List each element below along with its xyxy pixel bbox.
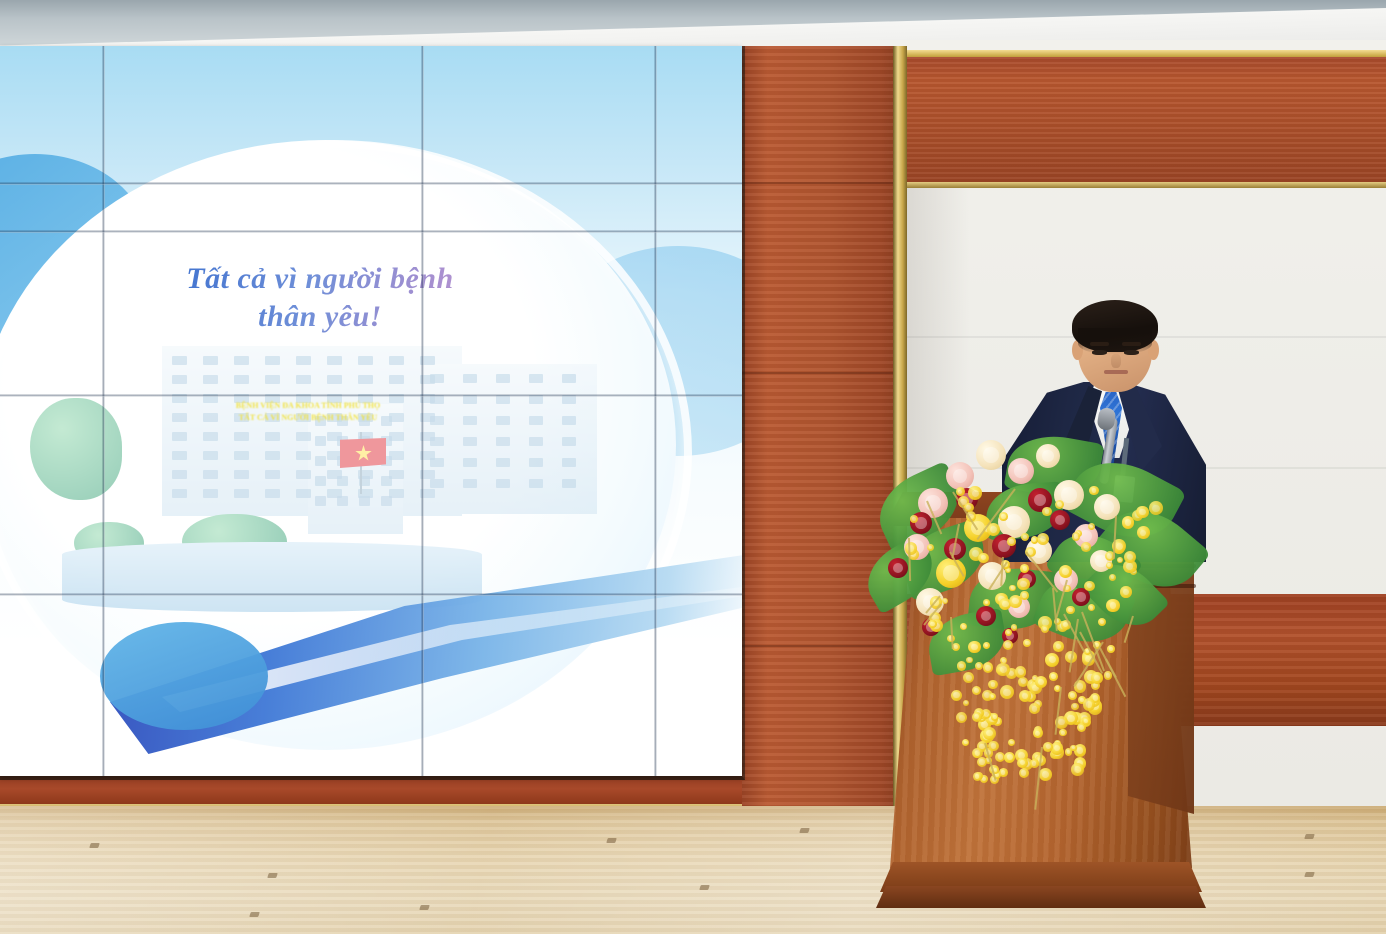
window bbox=[315, 476, 326, 486]
floral-arrangement bbox=[858, 418, 1188, 818]
valance-gold-trim-bottom bbox=[900, 182, 1386, 188]
window bbox=[315, 456, 326, 466]
orchid-floret bbox=[1030, 759, 1039, 768]
orchid-floret bbox=[1137, 526, 1150, 539]
window bbox=[172, 451, 187, 460]
floor-plank-mark bbox=[267, 873, 278, 878]
orchid-floret bbox=[1082, 717, 1090, 725]
orchid-floret bbox=[962, 739, 969, 746]
orchid-floret bbox=[1009, 595, 1022, 608]
window bbox=[496, 458, 510, 467]
window bbox=[296, 432, 311, 441]
wooden-beam-valance bbox=[900, 57, 1386, 185]
orchid-floret bbox=[1071, 763, 1083, 775]
window bbox=[529, 416, 543, 425]
orchid-floret bbox=[957, 661, 966, 670]
floor-plank-mark bbox=[249, 912, 260, 917]
window bbox=[381, 476, 392, 486]
orchid-floret bbox=[905, 542, 918, 555]
led-video-wall[interactable]: Tất cả vì người bệnh thân yêu! BỆNH VIỆN… bbox=[0, 46, 742, 776]
window bbox=[172, 356, 187, 365]
orchid-floret bbox=[1083, 698, 1096, 711]
window bbox=[315, 496, 326, 506]
window bbox=[296, 375, 311, 384]
floor-plank-mark bbox=[799, 828, 810, 833]
slide-subtext-line2: TẤT CẢ VÌ NGƯỜI BỆNH THÂN YÊU bbox=[148, 412, 468, 424]
window bbox=[529, 479, 543, 488]
slide-subtext: BỆNH VIỆN ĐA KHOA TỈNH PHÚ THỌ TẤT CẢ VÌ… bbox=[148, 400, 468, 424]
window bbox=[529, 458, 543, 467]
orchid-floret bbox=[956, 712, 967, 723]
orchid-floret bbox=[983, 662, 994, 673]
orchid-floret bbox=[1015, 666, 1027, 678]
orchid-floret bbox=[1008, 739, 1016, 747]
window bbox=[337, 496, 348, 506]
mouth bbox=[1104, 370, 1128, 374]
floor-plank-mark bbox=[606, 838, 617, 843]
window bbox=[389, 375, 404, 384]
orchid-floret bbox=[1109, 574, 1116, 581]
window bbox=[315, 436, 326, 446]
panel-seam-horizontal bbox=[0, 394, 742, 397]
window bbox=[496, 479, 510, 488]
orchid-floret bbox=[1106, 562, 1113, 569]
window bbox=[562, 374, 576, 383]
hospital-building-photo bbox=[22, 346, 602, 626]
window bbox=[463, 458, 477, 467]
window bbox=[265, 489, 280, 498]
slide-subtext-line1: BỆNH VIỆN ĐA KHOA TỈNH PHÚ THỌ bbox=[148, 400, 468, 412]
panel-seam-vertical bbox=[654, 46, 657, 776]
orchid-floret bbox=[988, 741, 999, 752]
orchid-floret bbox=[1033, 728, 1043, 738]
flower bbox=[888, 558, 908, 578]
flower bbox=[1036, 444, 1060, 468]
orchid-floret bbox=[951, 690, 963, 702]
window bbox=[327, 356, 342, 365]
panel-seam-horizontal bbox=[0, 230, 742, 233]
window bbox=[496, 416, 510, 425]
orchid-floret bbox=[1088, 523, 1095, 530]
panel-seam-horizontal bbox=[0, 182, 742, 185]
orchid-floret bbox=[1039, 768, 1052, 781]
orchid-floret bbox=[989, 693, 996, 700]
orchid-floret bbox=[1107, 645, 1114, 652]
orchid-floret bbox=[1011, 624, 1017, 630]
flower bbox=[976, 440, 1006, 470]
wood-panel-groove bbox=[742, 182, 900, 184]
floor-plank-mark bbox=[419, 905, 430, 910]
hair bbox=[1072, 300, 1158, 352]
window bbox=[172, 489, 187, 498]
wood-panel-groove bbox=[742, 372, 900, 374]
window bbox=[463, 479, 477, 488]
panel-seam-vertical bbox=[421, 46, 424, 776]
window bbox=[430, 374, 444, 383]
orchid-floret bbox=[975, 662, 983, 670]
window bbox=[203, 489, 218, 498]
orchid-floret bbox=[1068, 691, 1077, 700]
orchid-floret bbox=[1136, 506, 1149, 519]
panel-seam-horizontal bbox=[0, 593, 742, 596]
orchid-floret bbox=[978, 553, 988, 563]
window bbox=[496, 374, 510, 383]
orchid-floret bbox=[963, 672, 974, 683]
panel-seam-vertical bbox=[102, 46, 105, 776]
orchid-floret bbox=[942, 598, 948, 604]
orchid-floret bbox=[1023, 639, 1031, 647]
window bbox=[172, 375, 187, 384]
slide-headline: Tất cả vì người bệnh thân yêu! bbox=[0, 260, 640, 337]
window bbox=[296, 356, 311, 365]
window bbox=[463, 374, 477, 383]
orchid-floret bbox=[1071, 703, 1079, 711]
window bbox=[265, 451, 280, 460]
flower bbox=[976, 606, 996, 626]
flower bbox=[1050, 510, 1070, 530]
orchid-floret bbox=[999, 512, 1008, 521]
flower bbox=[1008, 458, 1034, 484]
window bbox=[562, 437, 576, 446]
window bbox=[562, 458, 576, 467]
orchid-floret bbox=[1045, 653, 1059, 667]
window bbox=[430, 458, 444, 467]
orchid-floret bbox=[1106, 599, 1119, 612]
orchid-floret bbox=[1120, 586, 1131, 597]
floor-plank-mark bbox=[1304, 834, 1315, 839]
window bbox=[234, 375, 249, 384]
orchid-floret bbox=[1005, 629, 1012, 636]
window bbox=[265, 432, 280, 441]
orchid-floret bbox=[956, 487, 965, 496]
window bbox=[430, 479, 444, 488]
eyebrow-right bbox=[1122, 342, 1141, 346]
nose bbox=[1111, 354, 1121, 368]
window bbox=[296, 489, 311, 498]
window bbox=[562, 416, 576, 425]
orchid-floret bbox=[1122, 516, 1135, 529]
orchid-floret bbox=[1059, 729, 1066, 736]
window bbox=[296, 470, 311, 479]
window bbox=[529, 374, 543, 383]
tree bbox=[30, 398, 122, 500]
window bbox=[203, 470, 218, 479]
orchid-floret bbox=[1018, 677, 1028, 687]
eyebrow-left bbox=[1090, 342, 1109, 346]
orchid-floret bbox=[1019, 768, 1029, 778]
baseboard bbox=[0, 772, 742, 806]
orchid-floret bbox=[983, 727, 996, 740]
window bbox=[234, 432, 249, 441]
floor-plank-mark bbox=[1304, 872, 1315, 877]
orchid-floret bbox=[1004, 752, 1015, 763]
orchid-floret bbox=[910, 515, 918, 523]
window bbox=[327, 375, 342, 384]
slide-headline-line2: thân yêu! bbox=[0, 298, 640, 336]
window bbox=[172, 432, 187, 441]
window bbox=[172, 470, 187, 479]
orchid-floret bbox=[1084, 581, 1094, 591]
floor-plank-mark bbox=[699, 885, 710, 890]
window bbox=[381, 496, 392, 506]
flower bbox=[946, 462, 974, 490]
orchid-floret bbox=[983, 642, 990, 649]
eye-left bbox=[1092, 350, 1107, 355]
window bbox=[265, 356, 280, 365]
orchid-floret bbox=[973, 772, 982, 781]
orchid-floret bbox=[1042, 507, 1051, 516]
orchid-floret bbox=[1003, 640, 1014, 651]
lectern-plinth bbox=[876, 886, 1206, 908]
window bbox=[337, 476, 348, 486]
orchid-floret bbox=[1035, 676, 1047, 688]
plaza bbox=[62, 542, 482, 612]
orchid-floret bbox=[1041, 625, 1050, 634]
window bbox=[203, 451, 218, 460]
orchid-floret bbox=[963, 700, 969, 706]
orchid-floret bbox=[972, 686, 981, 695]
window bbox=[430, 437, 444, 446]
slide-headline-line1: Tất cả vì người bệnh bbox=[0, 260, 640, 298]
vietnam-flag bbox=[340, 438, 386, 468]
window bbox=[234, 489, 249, 498]
window bbox=[234, 470, 249, 479]
window bbox=[265, 470, 280, 479]
decor-blob-icon bbox=[100, 622, 268, 730]
orchid-floret bbox=[1031, 536, 1039, 544]
orchid-floret bbox=[1081, 542, 1091, 552]
orchid-floret bbox=[968, 486, 982, 500]
orchid-floret bbox=[1049, 672, 1058, 681]
orchid-floret bbox=[1059, 565, 1072, 578]
orchid-floret bbox=[1029, 703, 1040, 714]
orchid-floret bbox=[1000, 685, 1014, 699]
orchid-floret bbox=[1007, 537, 1015, 545]
window bbox=[463, 437, 477, 446]
screenshot-root: Tất cả vì người bệnh thân yêu! BỆNH VIỆN… bbox=[0, 0, 1386, 934]
window bbox=[296, 451, 311, 460]
window bbox=[529, 437, 543, 446]
orchid-floret bbox=[972, 712, 982, 722]
window bbox=[265, 375, 280, 384]
window bbox=[234, 451, 249, 460]
orchid-floret bbox=[968, 641, 980, 653]
orchid-floret bbox=[1043, 742, 1053, 752]
window bbox=[562, 479, 576, 488]
orchid-floret bbox=[1021, 533, 1029, 541]
orchid-floret bbox=[1065, 748, 1072, 755]
orchid-floret bbox=[1066, 606, 1074, 614]
window bbox=[389, 356, 404, 365]
orchid-floret bbox=[1017, 758, 1027, 768]
orchid-floret bbox=[1089, 486, 1098, 495]
window bbox=[358, 356, 373, 365]
window bbox=[203, 432, 218, 441]
orchid-floret bbox=[999, 768, 1008, 777]
window bbox=[234, 356, 249, 365]
window bbox=[359, 496, 370, 506]
window bbox=[358, 375, 373, 384]
orchid-floret bbox=[977, 757, 987, 767]
presentation-slide: Tất cả vì người bệnh thân yêu! BỆNH VIỆN… bbox=[0, 46, 742, 776]
window bbox=[496, 437, 510, 446]
orchid-floret bbox=[984, 600, 990, 606]
orchid-floret bbox=[928, 620, 936, 628]
orchid-floret bbox=[988, 680, 997, 689]
window bbox=[203, 375, 218, 384]
window bbox=[203, 356, 218, 365]
orchid-floret bbox=[1149, 501, 1163, 515]
orchid-floret bbox=[1053, 641, 1063, 651]
floor-plank-mark bbox=[89, 843, 100, 848]
orchid-floret bbox=[991, 713, 999, 721]
eye-right bbox=[1124, 350, 1139, 355]
orchid-floret bbox=[927, 544, 934, 551]
vietnam-flag-star bbox=[355, 445, 372, 462]
